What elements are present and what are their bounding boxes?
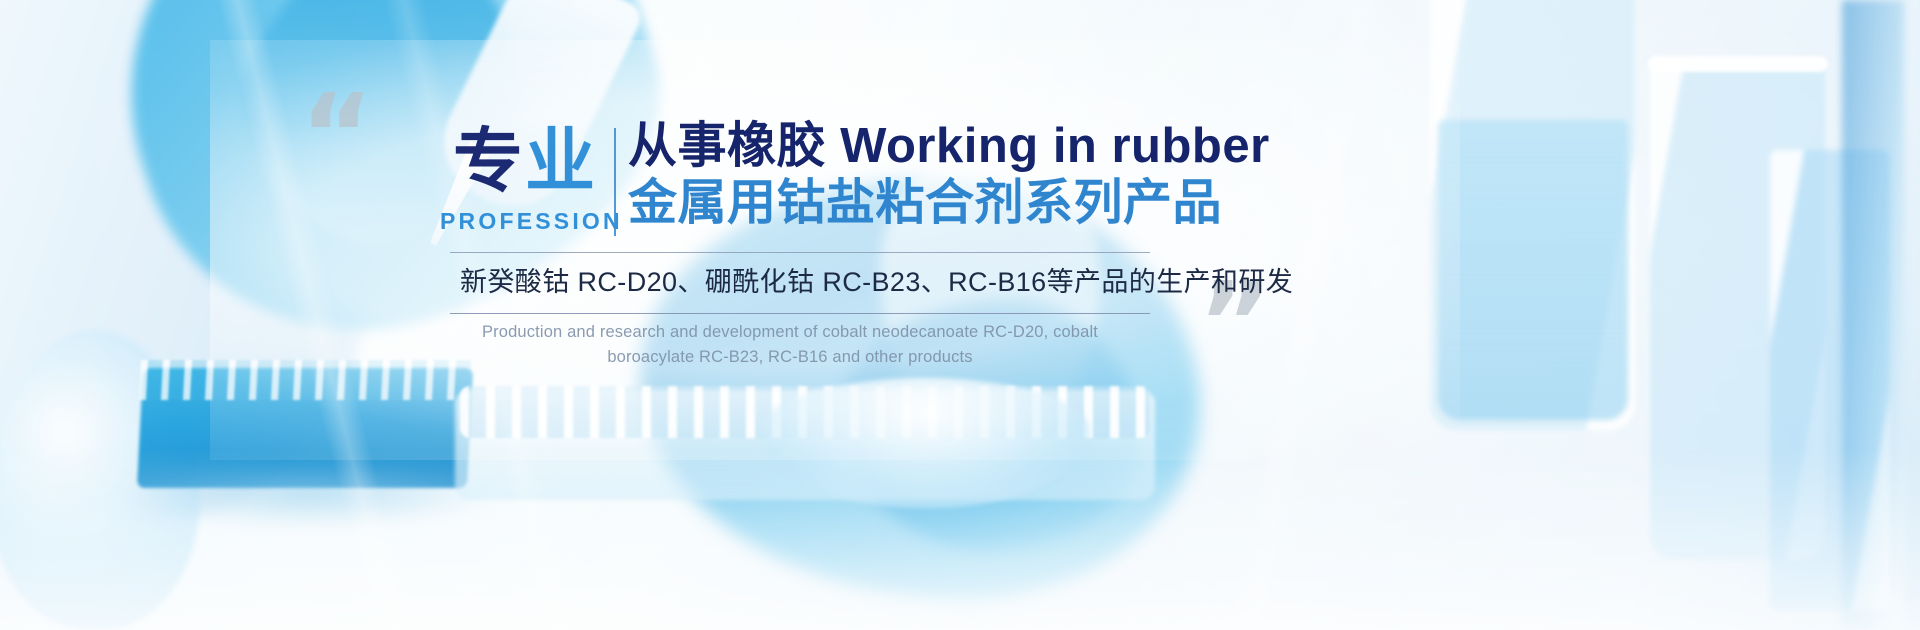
english-description: Production and research and development … bbox=[440, 320, 1140, 370]
logo-char-zhuan: 专 bbox=[453, 122, 525, 200]
vertical-divider bbox=[614, 128, 616, 236]
headline-line-2: 金属用钴盐粘合剂系列产品 bbox=[628, 175, 1270, 233]
subline-text: 新癸酸钴 RC-D20、硼酰化钴 RC-B23、RC-B16等产品的生产和研发 bbox=[450, 253, 1150, 313]
subline-block: 新癸酸钴 RC-D20、硼酰化钴 RC-B23、RC-B16等产品的生产和研发 bbox=[450, 252, 1150, 314]
hero-banner: “ ” 专业 PROFESSION 从事橡胶 Working in rubber… bbox=[0, 0, 1920, 630]
open-quote-icon: “ bbox=[300, 96, 376, 177]
subline-rule-bottom bbox=[450, 313, 1150, 314]
headline-block: 从事橡胶 Working in rubber 金属用钴盐粘合剂系列产品 bbox=[628, 118, 1270, 233]
banner-content: “ ” 专业 PROFESSION 从事橡胶 Working in rubber… bbox=[0, 0, 1920, 630]
subline-rule-top bbox=[450, 252, 1150, 253]
profession-logo-lockup: 专业 PROFESSION bbox=[440, 126, 610, 235]
logo-english-profession: PROFESSION bbox=[440, 208, 610, 235]
headline-line-1: 从事橡胶 Working in rubber bbox=[628, 118, 1270, 175]
logo-char-ye: 业 bbox=[525, 122, 597, 200]
logo-chinese: 专业 bbox=[440, 126, 610, 196]
